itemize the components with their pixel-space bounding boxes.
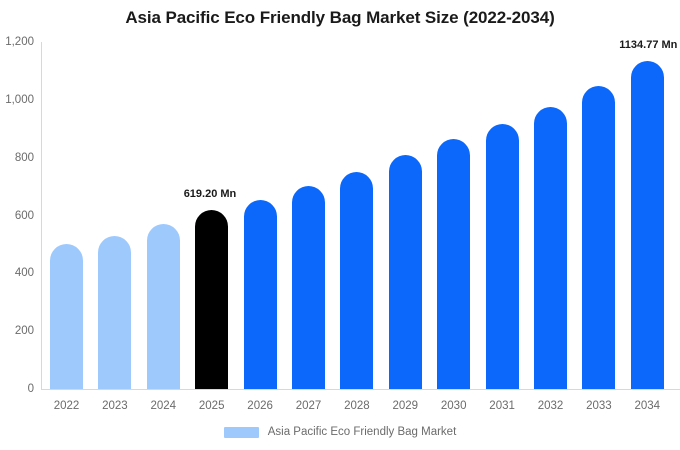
x-axis-tick-label-2034: 2034 — [623, 399, 671, 413]
bar-2023[interactable] — [98, 236, 131, 389]
bar-2029[interactable] — [389, 155, 422, 389]
data-label-2025: 619.20 Mn — [184, 188, 237, 200]
bar-2024[interactable] — [147, 224, 180, 389]
bar-2030[interactable] — [437, 139, 470, 389]
x-axis-tick-label-2024: 2024 — [139, 399, 187, 413]
legend-swatch-asia-pacific-eco-friendly-bag-market — [224, 427, 259, 438]
bar-2026[interactable] — [244, 200, 277, 389]
x-axis-tick-label-2027: 2027 — [285, 399, 333, 413]
x-axis-tick-label-2031: 2031 — [478, 399, 526, 413]
x-axis-tick-label-2022: 2022 — [43, 399, 91, 413]
legend-label-asia-pacific-eco-friendly-bag-market: Asia Pacific Eco Friendly Bag Market — [268, 426, 457, 439]
x-axis-tick-label-2030: 2030 — [430, 399, 478, 413]
bar-2028[interactable] — [340, 172, 373, 389]
x-axis-tick-label-2028: 2028 — [333, 399, 381, 413]
x-axis-tick-label-2032: 2032 — [527, 399, 575, 413]
chart-container: Asia Pacific Eco Friendly Bag Market Siz… — [0, 0, 680, 450]
bar-2031[interactable] — [486, 124, 519, 389]
x-axis-tick-label-2033: 2033 — [575, 399, 623, 413]
x-axis-tick-label-2025: 2025 — [188, 399, 236, 413]
bars-layer: 619.20 Mn1134.77 Mn — [0, 0, 680, 450]
chart-legend: Asia Pacific Eco Friendly Bag Market — [0, 426, 680, 439]
bar-2033[interactable] — [582, 86, 615, 389]
x-axis-tick-labels: 2022202320242025202620272028202920302031… — [0, 399, 680, 417]
data-label-2034: 1134.77 Mn — [619, 39, 677, 51]
x-axis-tick-label-2026: 2026 — [236, 399, 284, 413]
bar-2027[interactable] — [292, 186, 325, 389]
x-axis-tick-label-2029: 2029 — [381, 399, 429, 413]
bar-2025[interactable] — [195, 210, 228, 389]
bar-2022[interactable] — [50, 244, 83, 389]
x-axis-tick-label-2023: 2023 — [91, 399, 139, 413]
bar-2032[interactable] — [534, 107, 567, 389]
bar-2034[interactable] — [631, 61, 664, 389]
